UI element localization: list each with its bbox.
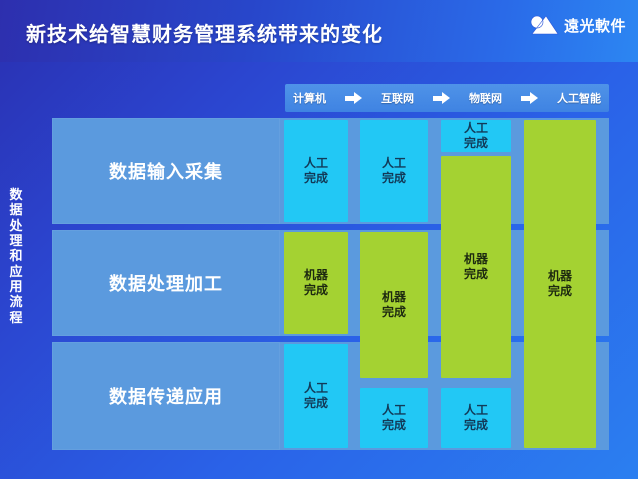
cell-line-2: 完成 [464, 267, 488, 282]
arrow-right-icon [345, 92, 363, 104]
cell-internet-delivery[interactable]: 人工 完成 [360, 388, 428, 448]
cell-line-2: 完成 [464, 418, 488, 433]
arrow-right-icon [433, 92, 451, 104]
cell-line-2: 完成 [464, 136, 488, 151]
cell-line-2: 完成 [382, 418, 406, 433]
column-header-ai: 人工智能 [557, 90, 601, 106]
process-matrix: 数据输入采集 数据处理加工 数据传递应用 人工 完成 机器 完成 人工 完成 人… [52, 118, 609, 450]
side-label-char: 用 [4, 280, 28, 295]
cell-computer-delivery[interactable]: 人工 完成 [284, 344, 348, 448]
cell-line-1: 人工 [464, 121, 488, 136]
cell-line-1: 人工 [382, 403, 406, 418]
side-label-char: 处 [4, 219, 28, 234]
logo-text: 遠光軟件 [564, 15, 626, 36]
process-axis-label: 数 据 处 理 和 应 用 流 程 [4, 188, 28, 326]
cell-internet-processing[interactable]: 机器 完成 [360, 232, 428, 378]
cell-line-1: 人工 [304, 381, 328, 396]
cell-line-2: 完成 [382, 171, 406, 186]
arrow-right-icon [521, 92, 539, 104]
page-title: 新技术给智慧财务管理系统带来的变化 [26, 18, 383, 47]
cell-line-2: 完成 [304, 283, 328, 298]
side-label-char: 程 [4, 311, 28, 326]
cell-line-2: 完成 [382, 305, 406, 320]
cell-iot-delivery[interactable]: 人工 完成 [441, 388, 511, 448]
cell-line-1: 人工 [304, 156, 328, 171]
cell-line-1: 机器 [382, 290, 406, 305]
side-label-char: 流 [4, 295, 28, 310]
column-header-computer: 计算机 [293, 90, 326, 106]
cell-line-1: 人工 [464, 403, 488, 418]
side-label-char: 数 [4, 188, 28, 203]
cell-computer-processing[interactable]: 机器 完成 [284, 232, 348, 334]
mountain-triangle-icon [529, 14, 559, 36]
cell-line-1: 机器 [548, 269, 572, 284]
cell-computer-input[interactable]: 人工 完成 [284, 120, 348, 222]
cell-line-1: 机器 [304, 268, 328, 283]
column-header-internet: 互联网 [381, 90, 414, 106]
side-label-char: 和 [4, 249, 28, 264]
side-label-char: 理 [4, 234, 28, 249]
brand-logo: 遠光軟件 [529, 14, 626, 36]
row-label-data-delivery: 数据传递应用 [52, 342, 280, 450]
row-label-data-input: 数据输入采集 [52, 118, 280, 224]
side-label-char: 据 [4, 203, 28, 218]
cell-line-2: 完成 [304, 171, 328, 186]
cell-iot-input[interactable]: 人工 完成 [441, 120, 511, 152]
cell-line-1: 人工 [382, 156, 406, 171]
cell-line-2: 完成 [304, 396, 328, 411]
cell-line-2: 完成 [548, 284, 572, 299]
cell-iot-processing[interactable]: 机器 完成 [441, 156, 511, 378]
slide-header: 新技术给智慧财务管理系统带来的变化 遠光軟件 [0, 0, 638, 62]
technology-timeline-header: 计算机 互联网 物联网 人工智能 [285, 84, 609, 112]
cell-ai-full-column[interactable]: 机器 完成 [524, 120, 596, 448]
cell-line-1: 机器 [464, 252, 488, 267]
side-label-char: 应 [4, 265, 28, 280]
column-header-iot: 物联网 [469, 90, 502, 106]
row-label-data-processing: 数据处理加工 [52, 230, 280, 336]
cell-internet-input[interactable]: 人工 完成 [360, 120, 428, 222]
